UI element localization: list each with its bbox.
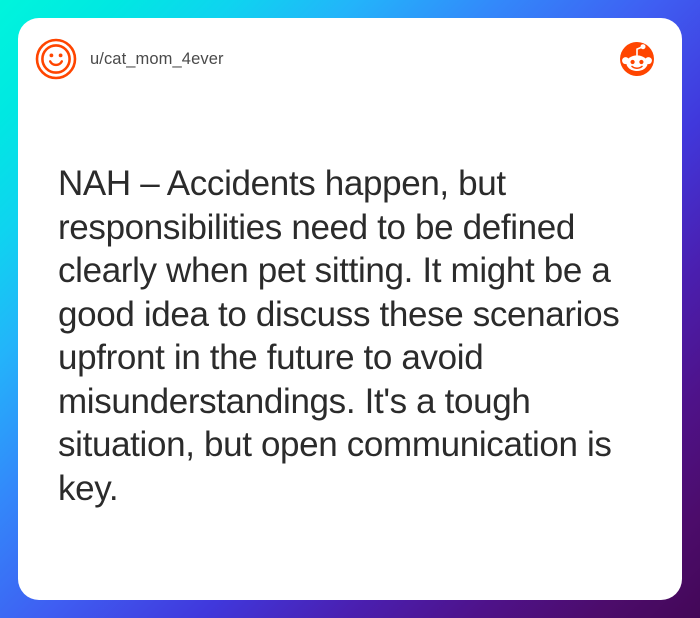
avatar[interactable] <box>34 37 78 81</box>
username-label[interactable]: u/cat_mom_4ever <box>90 50 224 69</box>
comment-text: NAH – Accidents happen, but responsibili… <box>58 162 656 510</box>
card-header: u/cat_mom_4ever <box>18 18 682 100</box>
reddit-snoo-icon <box>619 41 655 77</box>
comment-card: u/cat_mom_4ever NAH – Ac <box>18 18 682 600</box>
comment-body: NAH – Accidents happen, but responsibili… <box>58 162 656 510</box>
smiley-face-icon <box>35 38 77 80</box>
reddit-logo[interactable] <box>618 40 656 78</box>
